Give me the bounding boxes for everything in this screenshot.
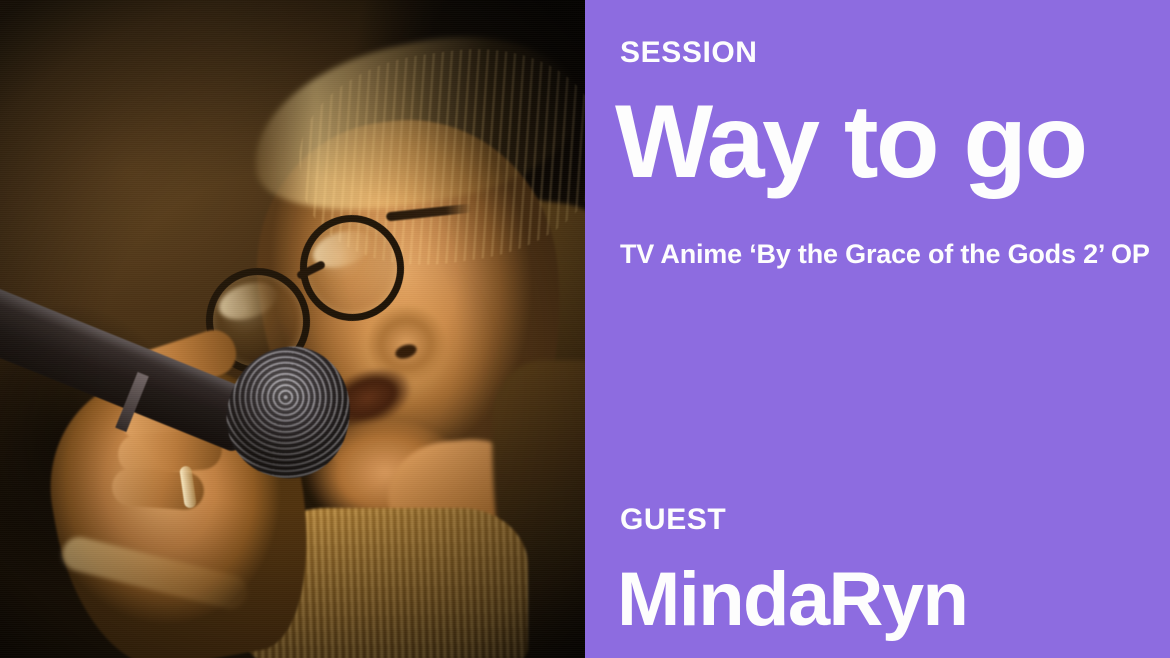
photo-stage: [0, 0, 585, 658]
song-title: Way to go: [615, 88, 1085, 196]
performance-photo: [0, 0, 585, 658]
title-card: SESSION Way to go TV Anime ‘By the Grace…: [0, 0, 1170, 658]
guest-label: GUEST: [620, 505, 726, 535]
session-label: SESSION: [620, 38, 758, 68]
guest-name: MindaRyn: [617, 560, 967, 640]
info-panel: SESSION Way to go TV Anime ‘By the Grace…: [585, 0, 1170, 658]
song-subtitle: TV Anime ‘By the Grace of the Gods 2’ OP: [620, 238, 1150, 270]
